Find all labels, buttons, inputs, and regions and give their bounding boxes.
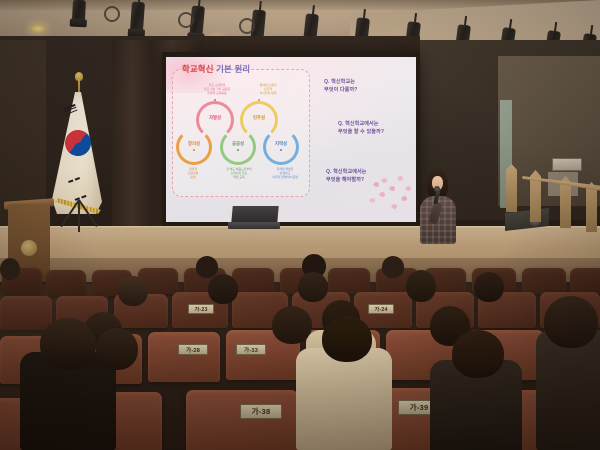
audience-head <box>452 330 504 378</box>
spotlight-cable-ring <box>178 12 194 28</box>
rail-post <box>506 164 517 212</box>
presentation-laptop-lid <box>231 206 278 223</box>
spotlight-cable-ring <box>239 18 255 34</box>
node-label-2: 창의성 <box>180 141 208 147</box>
seat-number-plate: 가-33 <box>236 344 266 355</box>
seat-number-plate: 가-38 <box>240 404 282 419</box>
slide-title-part1: 학교혁신 <box>182 64 214 74</box>
connector-dot <box>237 149 239 151</box>
node-desc-4: 지역의 특성을 반영하고 마을과 연계하여 운영 <box>264 167 306 180</box>
stage-spotlight <box>130 2 145 33</box>
node-desc-3: 한 명도 배움으로부터 소외되지 않는 책임 교육 <box>218 167 260 180</box>
presentation-laptop-base <box>228 222 280 229</box>
audience-head <box>40 318 96 370</box>
audience-head <box>474 272 504 302</box>
projection-screen: 학교혁신 기본 원리 학교 구성원의 학교 사랑 가치 공유로 자율적 교육활동… <box>166 57 416 222</box>
audience-head <box>322 316 372 362</box>
seat[interactable] <box>148 332 220 382</box>
ring-gonggongseong <box>220 129 256 165</box>
spotlight-cable-ring <box>104 6 120 22</box>
projection-screen-frame: 학교혁신 기본 원리 학교 구성원의 학교 사랑 가치 공유로 자율적 교육활동… <box>162 52 420 228</box>
audience-head <box>544 296 598 348</box>
slide-question-0: Q. 혁신학교는 무엇이 다를까? <box>324 79 357 95</box>
audience-body <box>536 330 600 450</box>
audience-head <box>196 256 218 278</box>
recessed-light <box>30 24 46 33</box>
audience-head <box>0 258 20 280</box>
slide-question-1: Q. 혁신학교에서는 무엇을 할 수 있을까? <box>338 121 384 137</box>
seat-number-plate: 가-23 <box>188 304 214 314</box>
flag-stand <box>60 200 100 234</box>
wall-sign <box>552 158 582 171</box>
seat[interactable] <box>570 268 600 294</box>
seat[interactable] <box>232 268 274 294</box>
audience-head <box>382 256 404 278</box>
slide-title: 학교혁신 기본 원리 <box>182 63 250 75</box>
node-label-0: 자발성 <box>201 115 229 121</box>
seat[interactable] <box>0 296 52 330</box>
stage-spotlight <box>72 0 86 22</box>
podium-emblem <box>21 240 37 256</box>
audience-head <box>298 272 328 302</box>
connector-dot <box>193 149 195 151</box>
auditorium-photo: 학교혁신 기본 원리 학교 구성원의 학교 사랑 가치 공유로 자율적 교육활동… <box>0 0 600 450</box>
audience-head <box>406 270 436 302</box>
seat[interactable] <box>522 268 566 294</box>
node-label-3: 공공성 <box>224 141 252 147</box>
seat[interactable] <box>186 390 298 450</box>
audience-head <box>96 328 138 370</box>
blossom-decor-corner <box>358 172 414 216</box>
slide-title-part2: 기본 원리 <box>216 64 250 74</box>
seat[interactable] <box>46 270 86 296</box>
seat-number-plate: 가-28 <box>178 344 208 355</box>
audience-head <box>118 276 148 306</box>
connector-dot <box>258 99 260 101</box>
node-label-4: 지역성 <box>267 141 295 147</box>
audience-head <box>208 274 238 304</box>
microphone-head <box>434 186 440 192</box>
node-desc-1: 參여와 소통의 민주적 의사결정 체제 <box>248 83 288 96</box>
connector-dot <box>214 99 216 101</box>
audience-body-puffer <box>296 348 392 450</box>
ring-jiyeokseong <box>263 129 299 165</box>
node-label-1: 민주성 <box>245 115 273 121</box>
seat[interactable] <box>328 268 370 294</box>
node-desc-2: 창의적 교육과정 운영 <box>176 167 210 180</box>
seat-number-plate: 가-24 <box>368 304 394 314</box>
node-desc-0: 학교 구성원의 학교 사랑 가치 공유로 자율적 교육활동 <box>194 83 240 96</box>
ring-changuiseong <box>176 129 212 165</box>
connector-dot <box>280 149 282 151</box>
